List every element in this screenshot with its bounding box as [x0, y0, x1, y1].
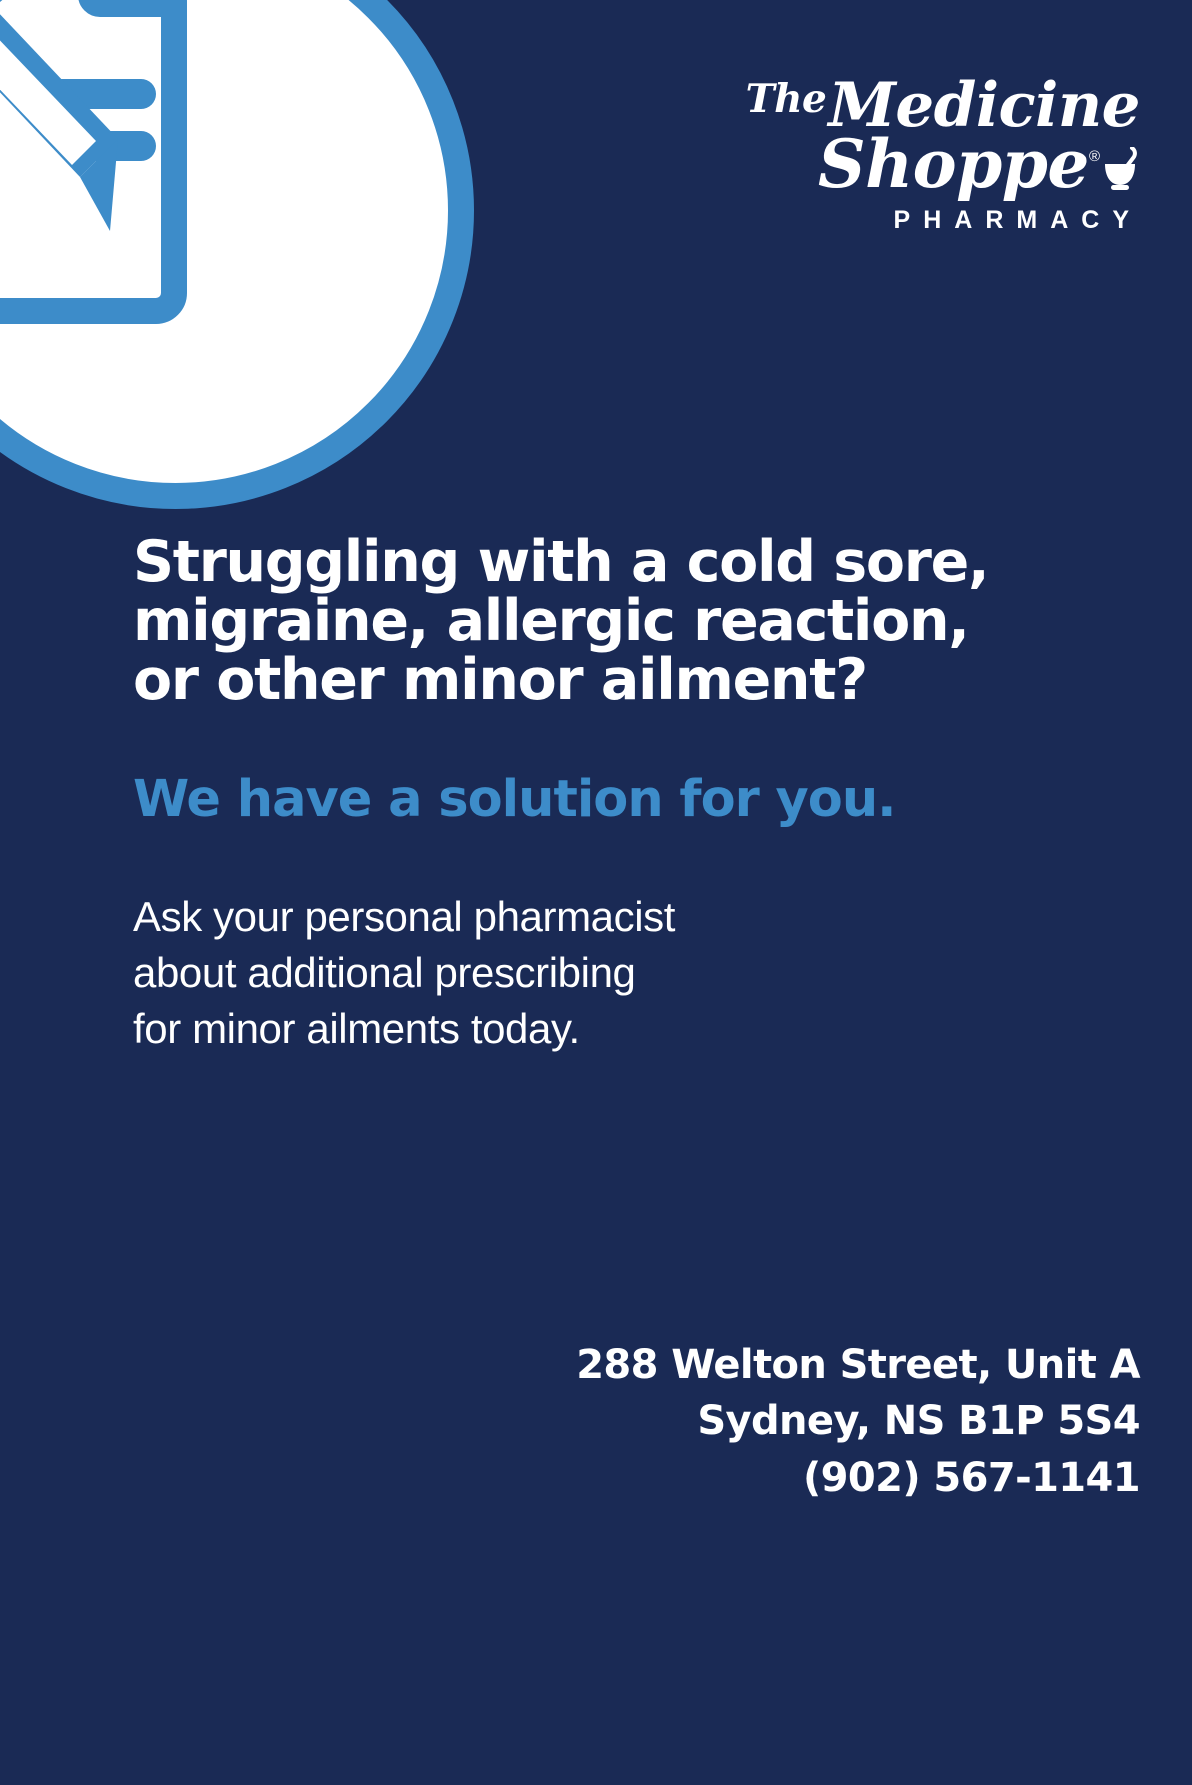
logo-the-word: The — [746, 76, 829, 122]
prescription-pad-pencil-icon — [0, 0, 338, 403]
logo-line-two: Shoppe® — [722, 134, 1142, 195]
registered-trademark-icon: ® — [1089, 148, 1100, 165]
medicine-shoppe-logo: TheMedicine Shoppe® PHARMACY — [722, 78, 1142, 235]
main-content: Struggling with a cold sore, migraine, a… — [133, 533, 1063, 1057]
store-address-block: 288 Welton Street, Unit A Sydney, NS B1P… — [576, 1337, 1140, 1507]
page-subheadline: We have a solution for you. — [133, 710, 1063, 827]
address-city-postal: Sydney, NS B1P 5S4 — [576, 1393, 1140, 1450]
mortar-and-pestle-icon — [1102, 147, 1142, 191]
page-body-text: Ask your personal pharmacist about addit… — [133, 827, 1063, 1058]
logo-pharmacy-tagline: PHARMACY — [722, 206, 1142, 235]
logo-shoppe-word: Shoppe — [818, 125, 1089, 203]
address-street: 288 Welton Street, Unit A — [576, 1337, 1140, 1394]
poster-canvas: TheMedicine Shoppe® PHARMACY Struggling … — [0, 0, 1192, 1785]
page-headline: Struggling with a cold sore, migraine, a… — [133, 533, 1063, 710]
address-phone: (902) 567-1141 — [576, 1450, 1140, 1507]
badge-circle — [0, 0, 474, 509]
